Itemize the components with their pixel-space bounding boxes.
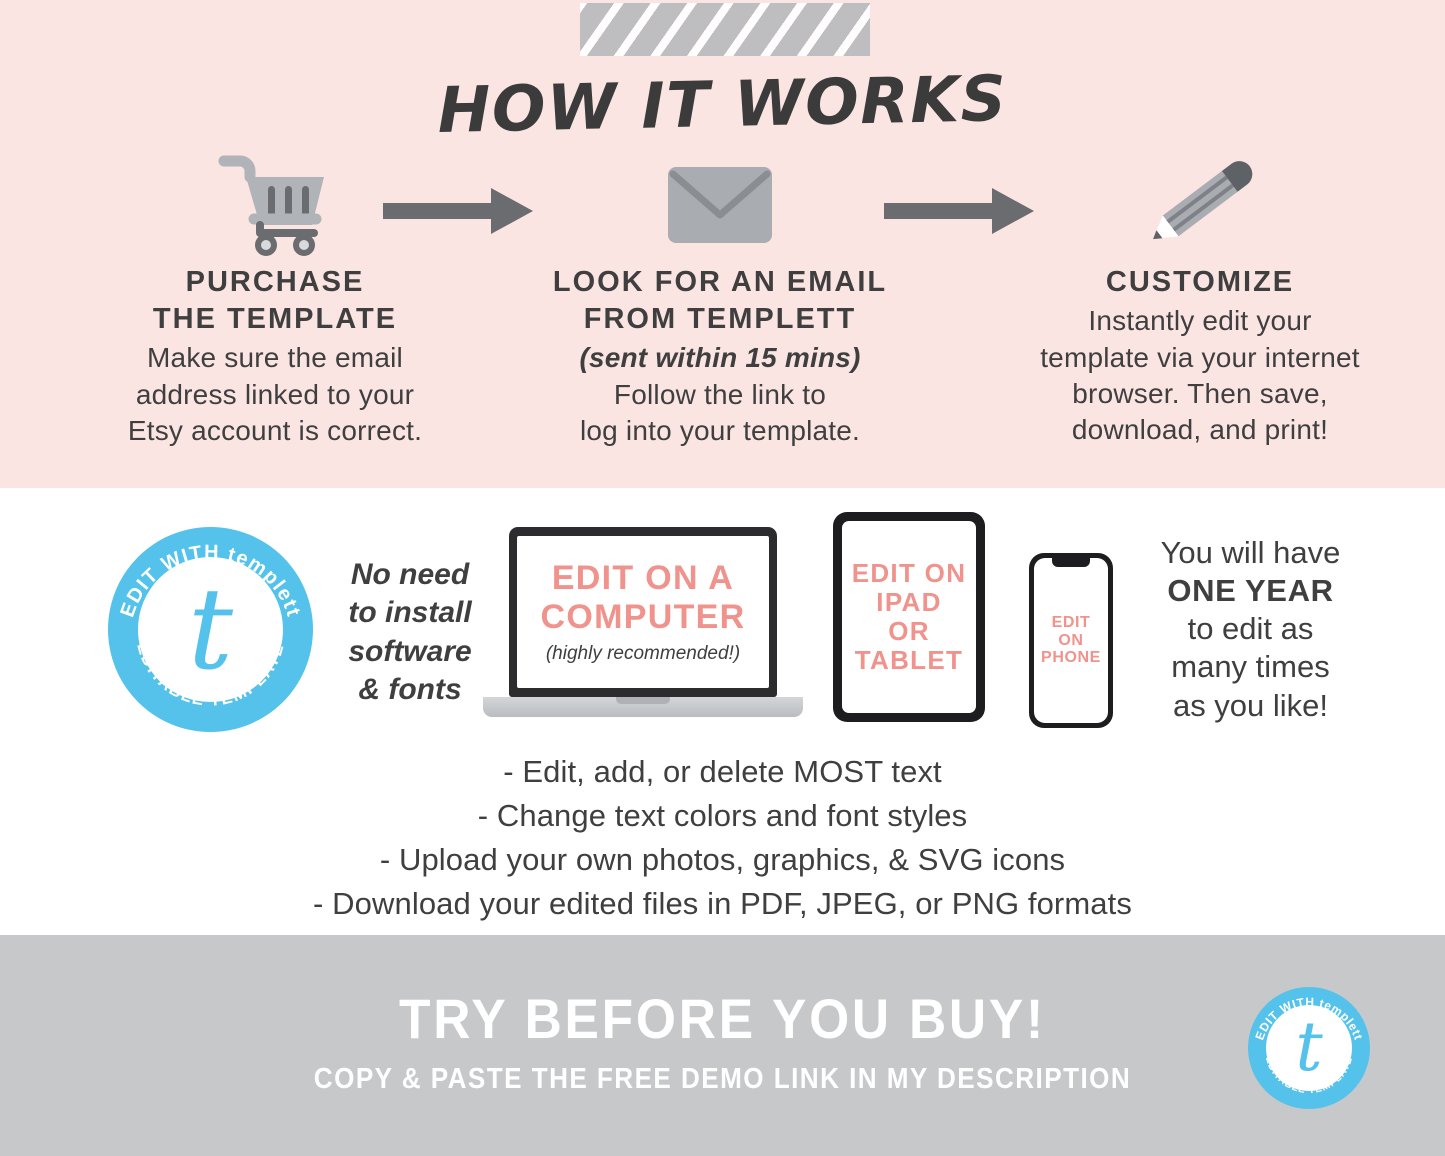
no-need-line-1: No need [330, 556, 490, 594]
footer-title: TRY BEFORE YOU BUY! [58, 986, 1387, 1051]
arrow-right-icon [884, 186, 1034, 236]
one-year-line-1: You will have [1118, 534, 1383, 572]
phone-mockup: EDIT ON PHONE [1029, 553, 1113, 728]
one-year-line-4: as you like! [1118, 687, 1383, 725]
phone-screen: EDIT ON PHONE [1034, 558, 1108, 723]
laptop-screen: EDIT ON A COMPUTER (highly recommended!) [517, 536, 769, 688]
step-body-line-2: address linked to your [60, 377, 490, 413]
no-need-line-2: to install [330, 594, 490, 632]
svg-text:EDITABLE TEMPLATE: EDITABLE TEMPLATE [1263, 1055, 1355, 1096]
step-body-line-1: Make sure the email [60, 340, 490, 376]
laptop-heading-line-2: COMPUTER [541, 598, 746, 636]
step-title-line-1: CUSTOMIZE [980, 264, 1420, 301]
step-title: LOOK FOR AN EMAIL FROM TEMPLETT [510, 264, 930, 338]
laptop-heading: EDIT ON A COMPUTER [541, 559, 746, 635]
one-year-line-3: many times [1118, 648, 1383, 686]
step-customize: CUSTOMIZE Instantly edit your template v… [980, 150, 1420, 449]
one-year-line-2: to edit as [1118, 610, 1383, 648]
step-body-line-4: download, and print! [980, 412, 1420, 448]
step-body: (sent within 15 mins) Follow the link to… [510, 340, 930, 449]
tablet-heading-line-1: EDIT ON [852, 559, 967, 588]
one-year-text: You will have ONE YEAR to edit as many t… [1118, 534, 1383, 725]
tablet-heading: EDIT ON IPAD OR TABLET [852, 559, 967, 675]
step-body-line-2: log into your template. [510, 413, 930, 449]
tablet-mockup: EDIT ON IPAD OR TABLET [833, 512, 985, 722]
washi-tape-icon [580, 3, 870, 56]
features-list: - Edit, add, or delete MOST text - Chang… [0, 750, 1445, 926]
step-title-line-2: FROM TEMPLETT [510, 301, 930, 338]
laptop-lid: EDIT ON A COMPUTER (highly recommended!) [509, 527, 777, 697]
one-year-highlight: ONE YEAR [1118, 572, 1383, 610]
phone-heading-line-3: PHONE [1041, 649, 1101, 667]
tablet-heading-line-2: IPAD [852, 588, 967, 617]
feature-item: - Download your edited files in PDF, JPE… [0, 882, 1445, 926]
svg-text:EDIT WITH templett: EDIT WITH templett [116, 541, 304, 620]
step-title-line-1: LOOK FOR AN EMAIL [510, 264, 930, 301]
badge-arc-text: EDIT WITH templett EDITABLE TEMPLATE [108, 527, 313, 732]
footer-subtitle: COPY & PASTE THE FREE DEMO LINK IN MY DE… [72, 1063, 1373, 1096]
step-body-line-3: Etsy account is correct. [60, 413, 490, 449]
infographic-page: HOW IT WORKS PURC [0, 0, 1445, 1156]
step-title: PURCHASE THE TEMPLATE [60, 264, 490, 338]
step-note: (sent within 15 mins) [510, 340, 930, 376]
feature-item: - Change text colors and font styles [0, 794, 1445, 838]
step-body-line-3: browser. Then save, [980, 376, 1420, 412]
phone-heading-line-2: ON [1041, 632, 1101, 650]
steps-row: PURCHASE THE TEMPLATE Make sure the emai… [0, 150, 1445, 470]
laptop-heading-line-1: EDIT ON A [541, 559, 746, 597]
laptop-subtext: (highly recommended!) [546, 643, 740, 665]
no-need-text: No need to install software & fonts [330, 556, 490, 710]
svg-text:EDITABLE TEMPLATE: EDITABLE TEMPLATE [133, 641, 288, 710]
templett-badge-footer: t EDIT WITH templett EDITABLE TEMPLATE [1248, 987, 1370, 1109]
laptop-mockup: EDIT ON A COMPUTER (highly recommended!) [483, 527, 803, 732]
step-body: Make sure the email address linked to yo… [60, 340, 490, 449]
svg-text:EDIT WITH templett: EDIT WITH templett [1252, 995, 1365, 1042]
badge-arc-text: EDIT WITH templett EDITABLE TEMPLATE [1248, 987, 1370, 1109]
no-need-line-3: software [330, 633, 490, 671]
phone-heading: EDIT ON PHONE [1041, 614, 1101, 668]
tablet-heading-line-3: OR [852, 617, 967, 646]
phone-heading-line-1: EDIT [1041, 614, 1101, 632]
feature-item: - Upload your own photos, graphics, & SV… [0, 838, 1445, 882]
arrow-right-icon [383, 186, 533, 236]
step-body: Instantly edit your template via your in… [980, 303, 1420, 449]
tablet-heading-line-4: TABLET [852, 646, 967, 675]
step-title: CUSTOMIZE [980, 264, 1420, 301]
no-need-line-4: & fonts [330, 671, 490, 709]
pencil-icon [980, 150, 1420, 260]
step-body-line-1: Follow the link to [510, 377, 930, 413]
step-body-line-1: Instantly edit your [980, 303, 1420, 339]
templett-badge: t EDIT WITH templett EDITABLE TEMPLATE [108, 527, 313, 732]
envelope-icon [510, 150, 930, 260]
tablet-screen: EDIT ON IPAD OR TABLET [842, 521, 976, 713]
step-body-line-2: template via your internet [980, 340, 1420, 376]
feature-item: - Edit, add, or delete MOST text [0, 750, 1445, 794]
laptop-trackpad-notch [616, 697, 670, 704]
step-look-for-email: LOOK FOR AN EMAIL FROM TEMPLETT (sent wi… [510, 150, 930, 449]
step-title-line-1: PURCHASE [60, 264, 490, 301]
phone-notch [1052, 558, 1090, 567]
step-title-line-2: THE TEMPLATE [60, 301, 490, 338]
